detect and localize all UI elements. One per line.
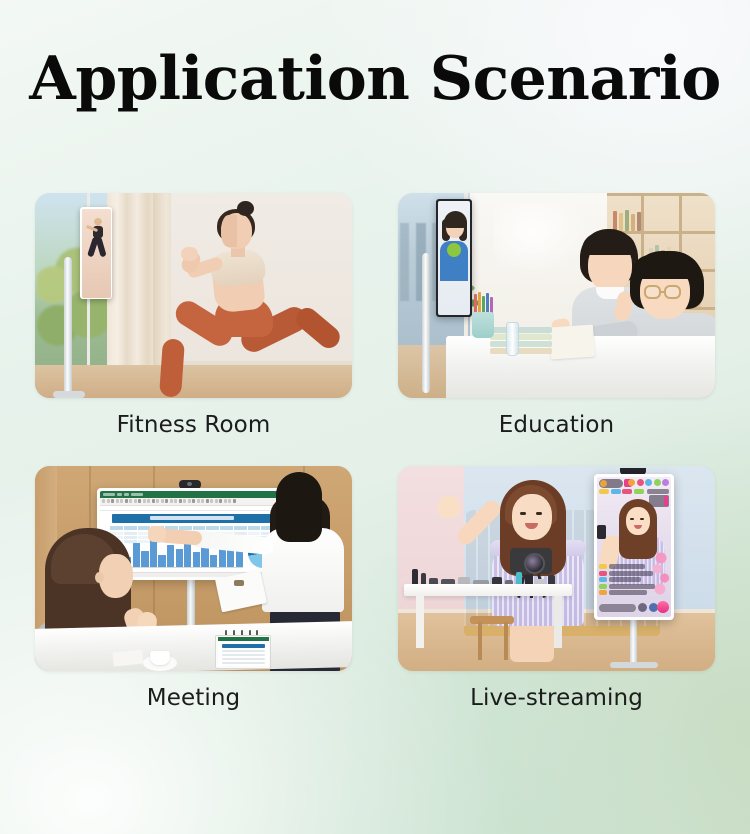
scenario-item-education[interactable]: Education xyxy=(398,193,715,440)
display-stand-pole xyxy=(64,257,72,397)
child-right-fringe xyxy=(632,255,700,279)
display-screen-content xyxy=(82,209,111,298)
display-stand-pole xyxy=(422,253,430,393)
child-right-glasses-left xyxy=(644,285,661,299)
meeting-scene xyxy=(35,466,352,671)
book-stack xyxy=(490,328,552,354)
product-held xyxy=(597,525,606,539)
fitness-room-scene xyxy=(35,193,352,398)
colleague-ear xyxy=(95,572,104,583)
vertical-display xyxy=(80,207,112,299)
teacher-prop xyxy=(447,243,461,257)
report-title-banner xyxy=(112,514,272,523)
pencil-holder xyxy=(472,312,494,338)
display-screen-content xyxy=(438,201,470,315)
host-head xyxy=(626,507,650,535)
host-eye-left xyxy=(630,518,634,520)
vertical-display xyxy=(594,474,674,620)
chat-row xyxy=(599,584,659,589)
cosmetics-products xyxy=(408,566,564,586)
chat-row xyxy=(599,577,659,582)
share-icon[interactable] xyxy=(638,603,647,612)
display-screen-content xyxy=(597,477,671,617)
host-eye-right xyxy=(640,518,644,520)
woman-front-shin xyxy=(159,338,185,397)
table-leg-right xyxy=(554,596,562,648)
display-stand-base xyxy=(53,391,85,398)
viewer-badges xyxy=(599,489,644,494)
scenario-image-fitness-room[interactable] xyxy=(35,193,352,398)
livestream-top-bar xyxy=(599,479,669,495)
application-scenario-page: Application Scenario xyxy=(0,0,750,834)
education-scene xyxy=(398,193,715,398)
host-avatar xyxy=(599,479,623,488)
scenario-caption-fitness-room: Fitness Room xyxy=(35,412,352,440)
presenter-watch xyxy=(234,580,244,586)
page-title: Application Scenario xyxy=(0,48,750,111)
streaming-table xyxy=(404,584,572,596)
exercising-woman xyxy=(153,199,343,398)
child-right-glasses-right xyxy=(664,285,681,299)
woman-face-shadow xyxy=(221,215,237,247)
laptop-screen xyxy=(218,637,269,666)
scenario-grid: Fitness Room xyxy=(35,193,715,712)
scenario-caption-education: Education xyxy=(398,412,715,440)
streamer-eye-right xyxy=(536,512,542,515)
laptop xyxy=(211,633,275,671)
scenario-image-live-streaming[interactable] xyxy=(398,466,715,671)
napkin xyxy=(112,649,143,666)
streamer-legs xyxy=(510,622,554,662)
streamer-eye-left xyxy=(520,512,526,515)
presenter-hair xyxy=(276,472,322,542)
open-notebook xyxy=(549,325,595,360)
colored-pencils xyxy=(472,292,496,314)
colleague-face xyxy=(99,554,133,598)
scenario-image-meeting[interactable] xyxy=(35,466,352,671)
scenario-item-meeting[interactable]: Meeting xyxy=(35,466,352,713)
live-streaming-scene xyxy=(398,466,715,671)
chat-messages xyxy=(599,564,659,597)
chat-row xyxy=(599,590,659,595)
woman-hair-bun xyxy=(237,201,254,216)
chat-input[interactable] xyxy=(599,604,636,612)
child-right-glasses-bridge xyxy=(660,291,666,293)
coffee-cup xyxy=(150,651,170,665)
display-stand-base xyxy=(610,662,658,668)
gift-button[interactable] xyxy=(657,601,669,613)
instructor-head xyxy=(95,220,101,226)
scenario-item-live-streaming[interactable]: Live-streaming xyxy=(398,466,715,713)
laptop-lid xyxy=(215,635,271,669)
streamer-head xyxy=(512,494,552,540)
rank-badge xyxy=(647,489,669,494)
display-stand-pole xyxy=(630,614,637,666)
scenario-caption-meeting: Meeting xyxy=(35,685,352,713)
water-glass xyxy=(506,322,519,356)
gift-icons xyxy=(628,479,669,486)
instructor-leg-back xyxy=(95,236,106,257)
teacher-hair xyxy=(444,211,467,228)
meeting-table xyxy=(35,620,352,670)
table-leg-left xyxy=(416,596,424,648)
scenario-image-education[interactable] xyxy=(398,193,715,398)
chat-row xyxy=(599,564,659,569)
vertical-display xyxy=(436,199,472,317)
scenario-caption-live-streaming: Live-streaming xyxy=(398,685,715,713)
scenario-item-fitness-room[interactable]: Fitness Room xyxy=(35,193,352,440)
chat-row xyxy=(599,571,659,576)
woman-hands xyxy=(181,247,198,261)
